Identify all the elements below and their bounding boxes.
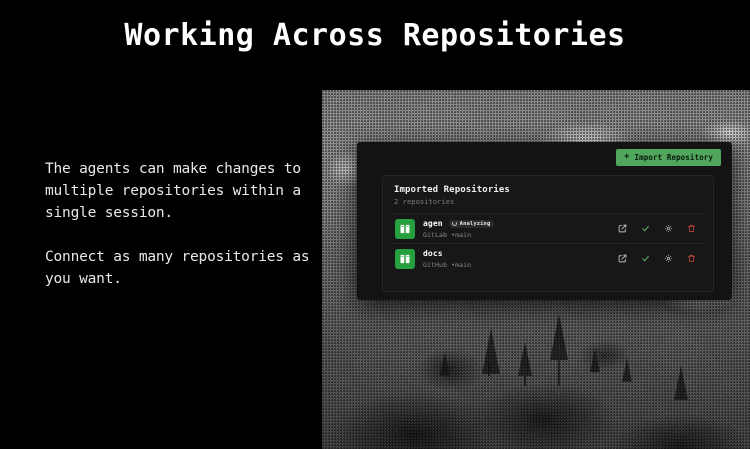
imported-repositories-card: Imported Repositories 2 repositories: [382, 175, 714, 292]
open-external-icon[interactable]: [617, 223, 628, 234]
check-icon[interactable]: [640, 253, 651, 264]
status-badge-label: Analyzing: [460, 221, 491, 227]
repository-name: agen: [423, 219, 443, 228]
table-row[interactable]: agen Analyzing GitLab •main: [391, 213, 705, 243]
spinner-icon: [452, 221, 457, 226]
repository-provider-branch: GitLab •main: [423, 231, 617, 239]
repository-book-icon: [395, 249, 415, 269]
trash-icon[interactable]: [686, 223, 697, 234]
repository-book-icon: [395, 219, 415, 239]
description-paragraph-2: Connect as many repositories as you want…: [45, 246, 315, 290]
panel-toolbar: + Import Repository: [616, 148, 721, 166]
gear-icon[interactable]: [663, 253, 674, 264]
repository-meta: docs GitHub •main: [423, 249, 617, 269]
tree-silhouette: [590, 348, 600, 372]
description-paragraph-1: The agents can make changes to multiple …: [45, 158, 315, 224]
trash-icon[interactable]: [686, 253, 697, 264]
tree-silhouette: [518, 342, 532, 376]
tree-silhouette: [674, 366, 688, 400]
tree-silhouette: [440, 352, 450, 376]
tree-silhouette: [550, 314, 568, 360]
tree-silhouette: [482, 328, 500, 374]
plus-icon: +: [624, 153, 630, 162]
tree-trunk: [524, 376, 526, 386]
repository-name: docs: [423, 249, 443, 258]
tree-trunk: [558, 360, 560, 386]
open-external-icon[interactable]: [617, 253, 628, 264]
repository-provider-branch: GitHub •main: [423, 261, 617, 269]
status-badge: Analyzing: [449, 220, 495, 228]
import-repository-button[interactable]: + Import Repository: [616, 149, 721, 166]
page-title: Working Across Repositories: [0, 18, 750, 53]
check-icon[interactable]: [640, 223, 651, 234]
card-repository-count: 2 repositories: [394, 198, 702, 206]
repositories-panel: + Import Repository Imported Repositorie…: [357, 142, 732, 300]
import-repository-button-label: Import Repository: [635, 153, 713, 162]
tree-silhouette: [622, 358, 632, 382]
description-column: The agents can make changes to multiple …: [45, 158, 315, 290]
product-screenshot: + Import Repository Imported Repositorie…: [322, 90, 750, 449]
row-actions: [617, 223, 697, 234]
tree-trunk: [488, 362, 490, 376]
gear-icon[interactable]: [663, 223, 674, 234]
table-row[interactable]: docs GitHub •main: [391, 243, 705, 273]
row-actions: [617, 253, 697, 264]
repository-meta: agen Analyzing GitLab •main: [423, 219, 617, 239]
repository-list: agen Analyzing GitLab •main: [383, 213, 713, 273]
card-title: Imported Repositories: [394, 185, 702, 195]
card-header: Imported Repositories 2 repositories: [383, 176, 713, 213]
